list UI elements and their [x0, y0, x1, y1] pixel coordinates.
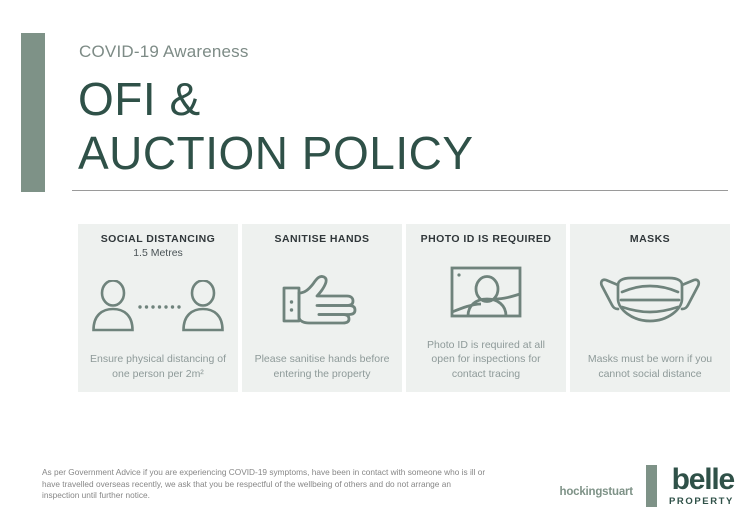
card-body-text: Photo ID is required at all open for ins…	[414, 338, 558, 393]
face-mask-icon	[598, 271, 702, 327]
card-photo-id: PHOTO ID IS REQUIRED Photo ID is require…	[406, 224, 566, 392]
card-body-text: Please sanitise hands before entering th…	[250, 352, 394, 392]
footer-disclaimer: As per Government Advice if you are expe…	[42, 467, 487, 502]
card-icon-slot	[414, 246, 558, 338]
two-people-distancing-icon	[90, 280, 226, 332]
poster-canvas: COVID-19 Awareness OFI & AUCTION POLICY …	[0, 0, 750, 530]
belle-tagline: PROPERTY	[669, 496, 734, 507]
accent-bar	[21, 33, 45, 192]
belle-property-logo: belle PROPERTY	[669, 465, 734, 507]
eyebrow-label: COVID-19 Awareness	[79, 42, 249, 62]
hockingstuart-logo: hockingstuart	[560, 486, 633, 498]
open-hand-icon	[279, 271, 365, 327]
card-title: SANITISE HANDS	[275, 233, 370, 246]
card-icon-slot	[250, 246, 394, 352]
card-body-text: Masks must be worn if you cannot social …	[578, 352, 722, 392]
guidelines-card-list: SOCIAL DISTANCING 1.5 Metres	[78, 224, 730, 392]
card-sanitise-hands: SANITISE HANDS Please sanitise hands bef…	[242, 224, 402, 392]
card-social-distancing: SOCIAL DISTANCING 1.5 Metres	[78, 224, 238, 392]
logo-divider-bar	[646, 465, 657, 507]
brand-logos: hockingstuart belle PROPERTY	[560, 463, 735, 509]
card-title: SOCIAL DISTANCING	[101, 233, 216, 246]
page-title: OFI & AUCTION POLICY	[78, 72, 474, 180]
belle-wordmark: belle	[672, 465, 734, 495]
header-divider	[72, 190, 728, 191]
card-masks: MASKS Masks must be worn if you cannot s…	[570, 224, 730, 392]
card-subtitle: 1.5 Metres	[133, 246, 183, 260]
card-icon-slot	[86, 260, 230, 352]
card-title: MASKS	[630, 233, 670, 246]
card-body-text: Ensure physical distancing of one person…	[86, 352, 230, 392]
card-icon-slot	[578, 246, 722, 352]
card-title: PHOTO ID IS REQUIRED	[421, 233, 552, 246]
photo-id-card-icon	[448, 264, 524, 320]
